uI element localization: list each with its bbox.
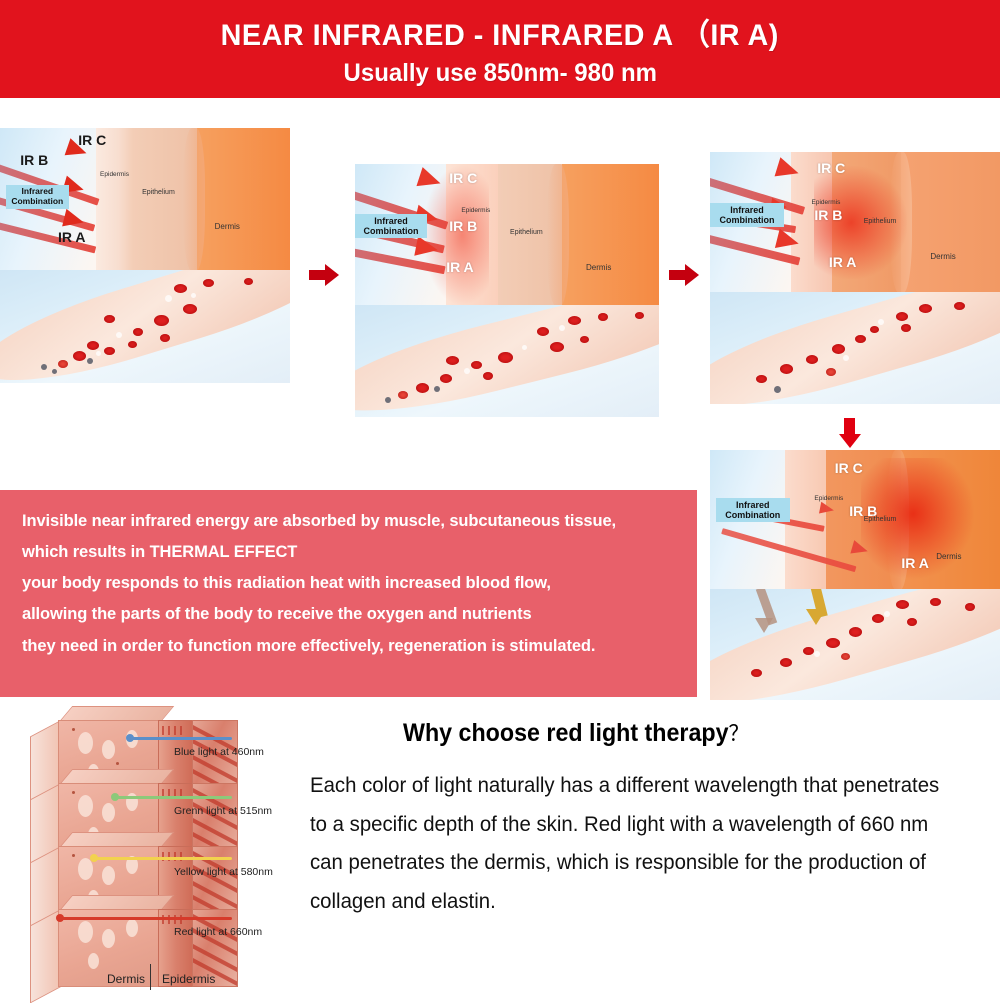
skin-cross-section: Infrared Combination IR C IR B IR A Epid… bbox=[0, 128, 290, 271]
infrared-combination-label: Infrared Combination bbox=[6, 185, 69, 209]
epidermis-label: Epidermis bbox=[100, 171, 129, 178]
epidermis-label: Epidermis bbox=[812, 199, 841, 206]
green-light-label: Grenn light at 515nm bbox=[174, 805, 272, 817]
dermis-axis-label: Dermis bbox=[107, 972, 145, 986]
axis-divider bbox=[150, 964, 151, 990]
ir-penetration-panel-1: Infrared Combination IR C IR B IR A Epid… bbox=[0, 128, 290, 383]
epidermis-label: Epidermis bbox=[461, 207, 490, 214]
blood-vessel-illustration bbox=[0, 270, 290, 383]
epidermis-axis-label: Epidermis bbox=[162, 972, 215, 986]
yellow-light-line bbox=[94, 857, 232, 860]
blue-light-label: Blue light at 460nm bbox=[174, 746, 264, 758]
wavelength-penetration-diagram: Blue light at 460nm Grenn light at 515nm bbox=[22, 706, 312, 991]
ir-b-label: IR B bbox=[814, 207, 842, 223]
red-light-label: Red light at 660nm bbox=[174, 926, 262, 938]
epithelium-label: Epithelium bbox=[142, 189, 175, 196]
epithelium-label: Epithelium bbox=[510, 229, 543, 236]
infrared-combination-label: Infrared Combination bbox=[355, 214, 427, 239]
blood-vessel-illustration bbox=[355, 305, 659, 417]
header-banner: NEAR INFRARED - INFRARED A （IR A) Usuall… bbox=[0, 0, 1000, 98]
why-section-body: Each color of light naturally has a diff… bbox=[310, 775, 970, 930]
infrared-combination-label: Infrared Combination bbox=[710, 203, 784, 228]
why-body-line-2: to a specific depth of the skin. Red lig… bbox=[310, 814, 950, 837]
ir-c-label: IR C bbox=[817, 160, 845, 176]
header-title: NEAR INFRARED - INFRARED A （IR A) bbox=[221, 10, 779, 54]
skin-cross-section: Infrared Combination IR C IR B IR A Epid… bbox=[355, 164, 659, 306]
header-subtitle: Usually use 850nm- 980 nm bbox=[343, 59, 656, 88]
skin-cross-section: Infrared Combination IR C IR B IR A Epid… bbox=[710, 450, 1000, 590]
why-body-line-4: collagen and elastin. bbox=[310, 891, 950, 914]
green-light-line bbox=[115, 796, 232, 799]
ir-b-label: IR B bbox=[449, 218, 477, 234]
why-section-title: Why choose red light therapy？ bbox=[403, 716, 749, 748]
pink-line-2: which results in THERMAL EFFECT bbox=[22, 543, 679, 561]
ir-penetration-panel-2: Infrared Combination IR C IR B IR A Epid… bbox=[355, 164, 659, 417]
epidermis-label: Epidermis bbox=[814, 495, 843, 502]
ir-a-label: IR A bbox=[901, 555, 928, 571]
pink-line-4: allowing the parts of the body to receiv… bbox=[22, 605, 679, 623]
epithelium-label: Epithelium bbox=[864, 218, 897, 225]
thermal-effect-text-block: Invisible near infrared energy are absor… bbox=[0, 490, 697, 697]
ir-penetration-panel-4: Infrared Combination IR C IR B IR A Epid… bbox=[710, 450, 1000, 700]
infrared-combination-label: Infrared Combination bbox=[716, 498, 790, 523]
flow-arrow-2 bbox=[669, 263, 699, 287]
ir-a-label: IR A bbox=[58, 229, 85, 245]
blood-vessel-illustration bbox=[710, 589, 1000, 700]
ir-c-label: IR C bbox=[449, 170, 477, 186]
flow-arrow-3 bbox=[838, 418, 864, 448]
pink-line-3: your body responds to this radiation hea… bbox=[22, 574, 679, 592]
dermis-label: Dermis bbox=[936, 552, 961, 561]
ir-c-label: IR C bbox=[835, 460, 863, 476]
red-light-line bbox=[60, 917, 232, 920]
why-body-line-3: can penetrates the dermis, which is resp… bbox=[310, 852, 950, 875]
ir-a-label: IR A bbox=[446, 259, 473, 275]
dermis-label: Dermis bbox=[215, 222, 240, 231]
ir-penetration-panel-3: Infrared Combination IR C IR B IR A Epid… bbox=[710, 152, 1000, 404]
yellow-light-label: Yellow light at 580nm bbox=[174, 866, 273, 878]
skin-cross-section: Infrared Combination IR C IR B IR A Epid… bbox=[710, 152, 1000, 293]
flow-arrow-1 bbox=[309, 263, 339, 287]
blood-vessel-illustration bbox=[710, 292, 1000, 404]
pink-line-5: they need in order to function more effe… bbox=[22, 637, 679, 655]
dermis-label: Dermis bbox=[586, 263, 611, 272]
ir-a-label: IR A bbox=[829, 254, 856, 270]
ir-c-label: IR C bbox=[78, 132, 106, 148]
pink-line-1: Invisible near infrared energy are absor… bbox=[22, 512, 679, 530]
blue-light-line bbox=[130, 737, 232, 740]
ir-b-label: IR B bbox=[20, 152, 48, 168]
dermis-label: Dermis bbox=[930, 252, 955, 261]
why-title-text: Why choose red light therapy bbox=[403, 719, 729, 747]
why-title-question: ？ bbox=[729, 721, 749, 746]
why-body-line-1: Each color of light naturally has a diff… bbox=[310, 775, 950, 798]
epithelium-label: Epithelium bbox=[864, 516, 897, 523]
